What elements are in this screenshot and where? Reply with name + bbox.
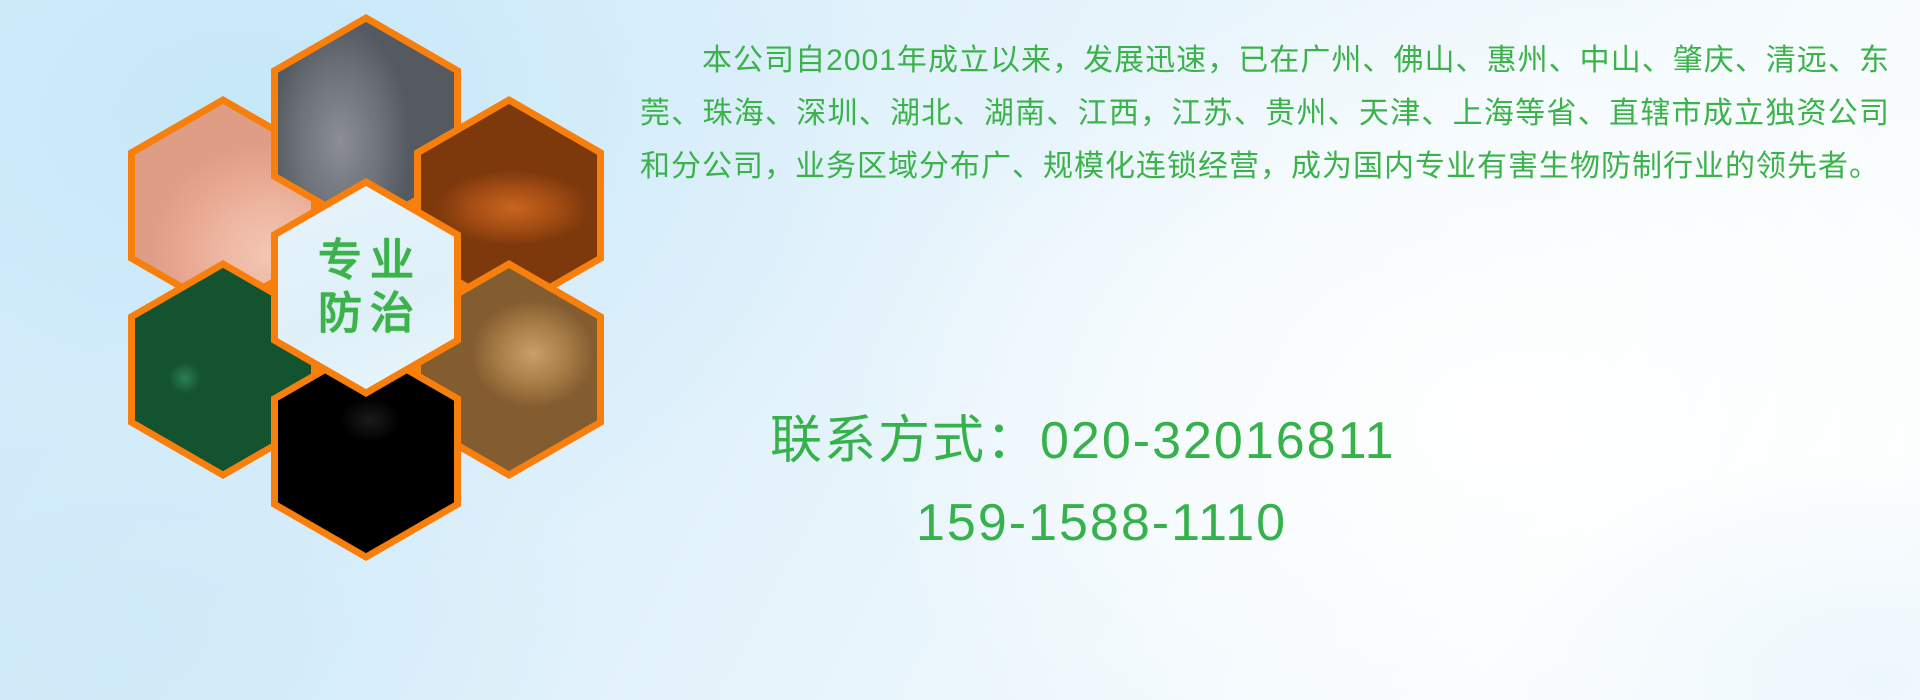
promo-banner: 专业 防治 本公司自2001年成立以来，发展迅速，已在广州、佛山、惠州、中山、肇… [0, 0, 1920, 700]
contact-line-secondary[interactable]: 159-1588-1110 [916, 482, 1890, 564]
contact-line-primary[interactable]: 联系方式：020-32016811 [770, 400, 1890, 482]
contact-block: 联系方式：020-32016811 159-1588-1110 [770, 400, 1890, 564]
hex-inner: 专业 防治 [278, 186, 454, 389]
company-description: 本公司自2001年成立以来，发展迅速，已在广州、佛山、惠州、中山、肇庆、清远、东… [640, 34, 1890, 193]
slogan-line-1: 专业 [310, 238, 422, 285]
slogan-line-2: 防治 [310, 291, 422, 338]
description-paragraph: 本公司自2001年成立以来，发展迅速，已在广州、佛山、惠州、中山、肇庆、清远、东… [640, 34, 1890, 193]
slogan-text: 专业 防治 [278, 186, 454, 389]
honeycomb-image-cluster: 专业 防治 [95, 0, 605, 592]
